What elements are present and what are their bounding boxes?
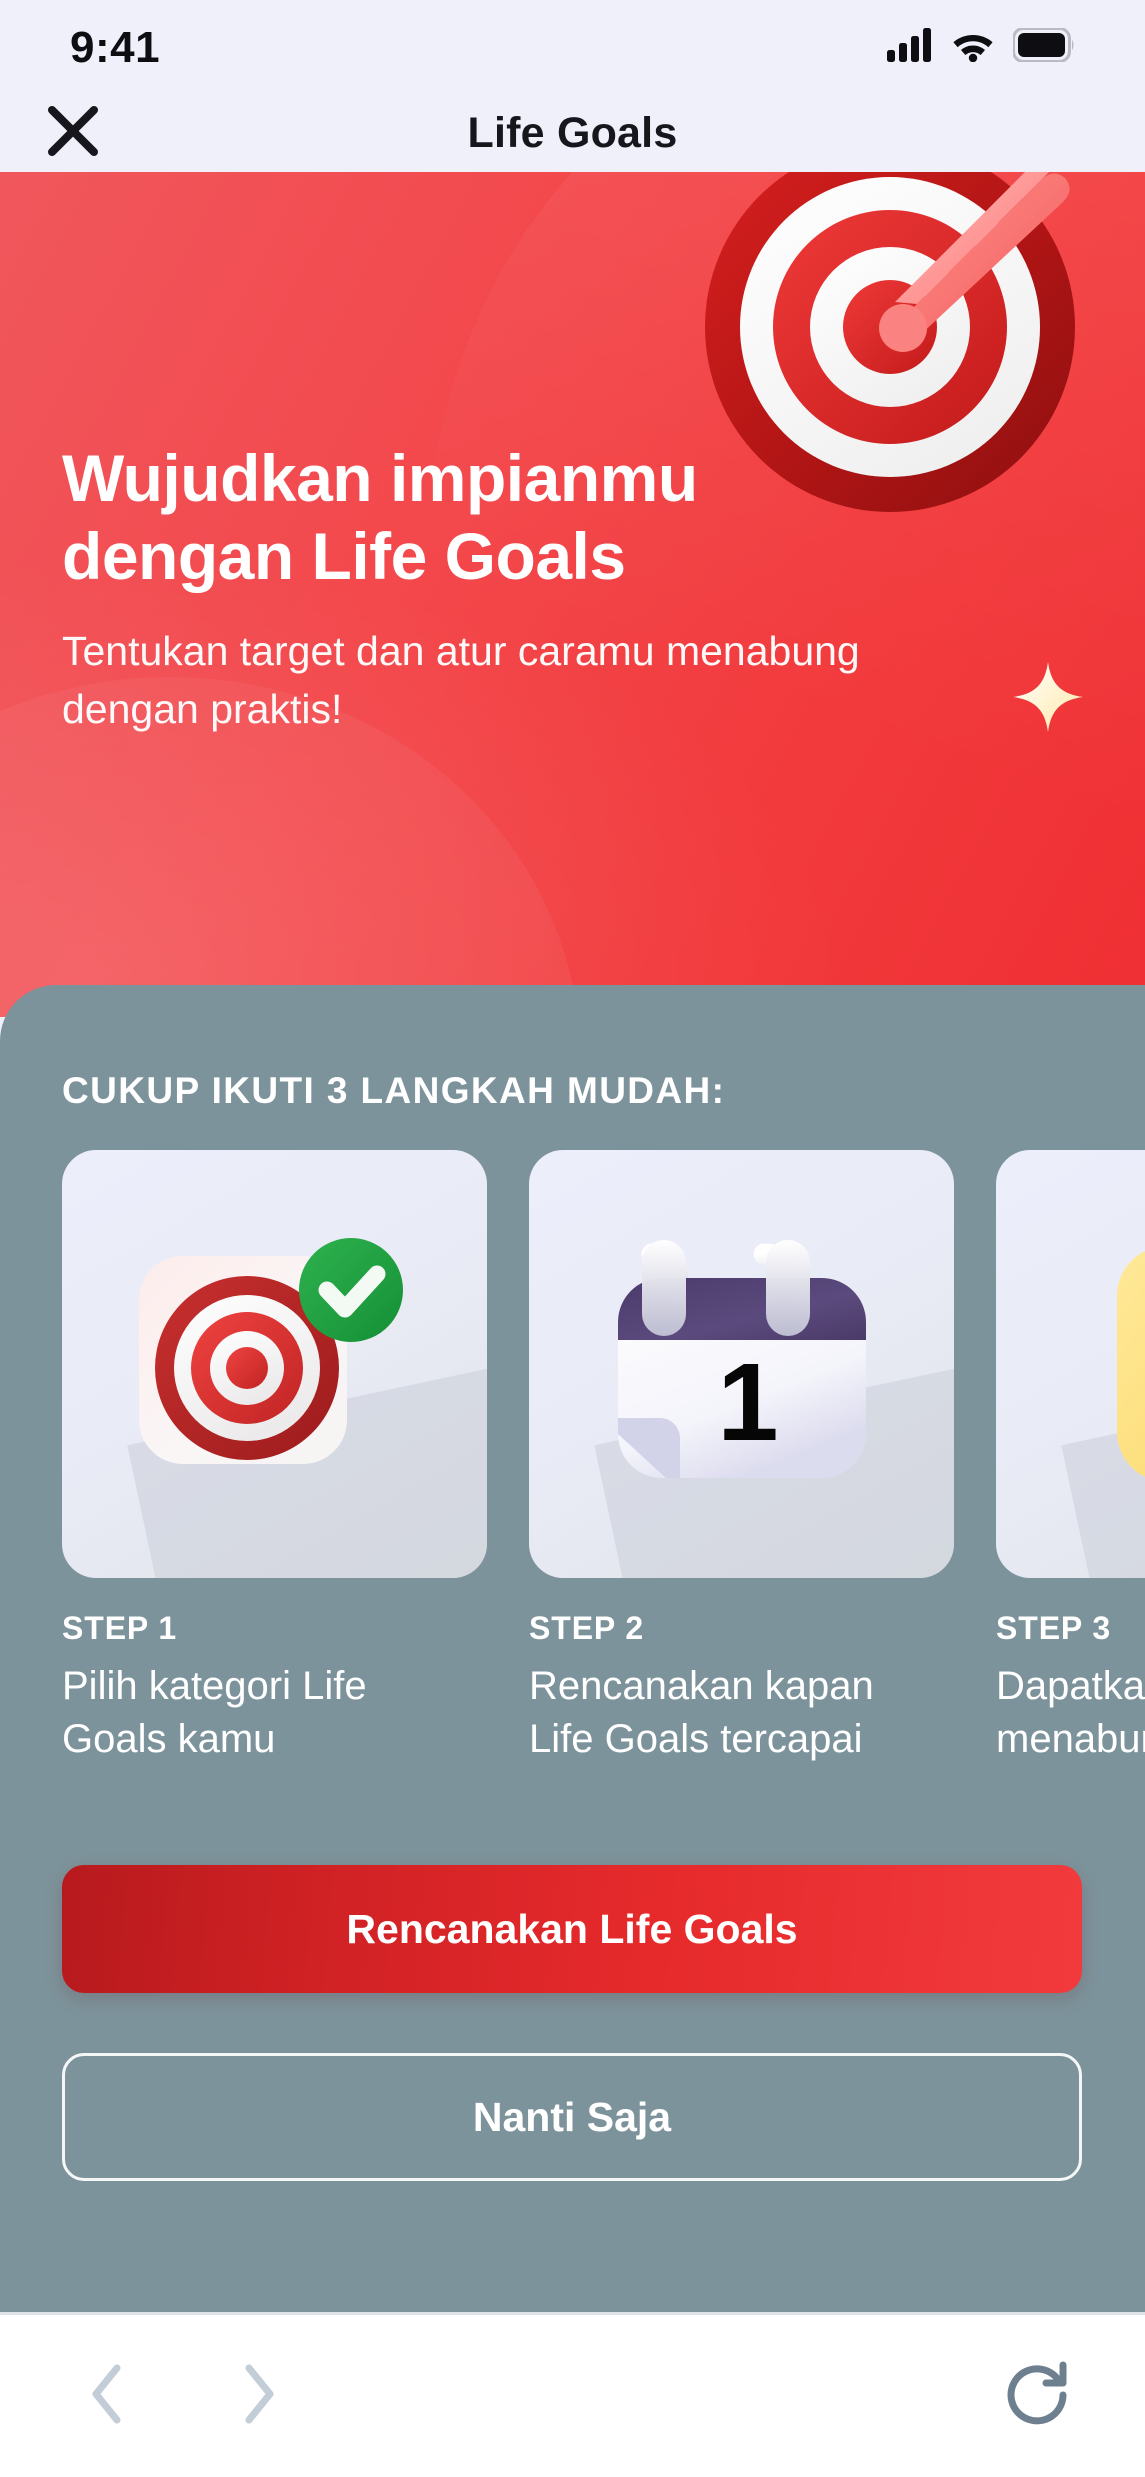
plan-life-goals-button[interactable]: Rencanakan Life Goals: [62, 1865, 1082, 1993]
status-bar: 9:41: [0, 0, 1145, 95]
hero-title: Wujudkan impianmu dengan Life Goals: [62, 440, 992, 596]
wifi-icon: [951, 28, 995, 67]
close-button[interactable]: [38, 99, 108, 169]
chevron-left-icon: [84, 2362, 130, 2431]
svg-text:1: 1: [717, 1341, 778, 1464]
money-bag-icon: [1063, 1218, 1145, 1510]
browser-nav-group: [70, 2359, 296, 2433]
sparkle-icon: [1013, 662, 1083, 732]
nav-bar: Life Goals: [0, 95, 1145, 172]
hero-subtitle: Tentukan target dan atur caramu menabung…: [62, 622, 992, 738]
browser-back-button[interactable]: [70, 2359, 144, 2433]
steps-heading: CUKUP IKUTI 3 LANGKAH MUDAH:: [62, 1070, 725, 1112]
mobile-screen: 9:41: [0, 0, 1145, 2477]
chevron-right-icon: [236, 2362, 282, 2431]
step-2-image: 1: [529, 1150, 954, 1578]
step-card-2[interactable]: 1 STEP 2 Rencanakan kapan Life Goals ter…: [529, 1150, 954, 1766]
step-2-description: Rencanakan kapan Life Goals tercapai: [529, 1660, 954, 1766]
target-check-icon: [129, 1218, 421, 1510]
steps-panel: CUKUP IKUTI 3 LANGKAH MUDAH:: [0, 985, 1145, 2312]
status-indicators: [887, 28, 1075, 67]
hero-title-line2: dengan Life Goals: [62, 518, 992, 596]
hero-text-block: Wujudkan impianmu dengan Life Goals Tent…: [62, 440, 992, 738]
step-1-description: Pilih kategori Life Goals kamu: [62, 1660, 487, 1766]
browser-reload-button[interactable]: [1001, 2359, 1075, 2433]
steps-carousel[interactable]: STEP 1 Pilih kategori Life Goals kamu: [62, 1150, 1145, 1766]
step-card-1[interactable]: STEP 1 Pilih kategori Life Goals kamu: [62, 1150, 487, 1766]
step-card-3[interactable]: STEP 3 Dapatkan tips menabung: [996, 1150, 1145, 1766]
hero-title-line1: Wujudkan impianmu: [62, 440, 992, 518]
calendar-day-one-icon: 1: [596, 1218, 888, 1510]
close-x-icon: [46, 104, 100, 163]
later-button[interactable]: Nanti Saja: [62, 2053, 1082, 2181]
step-2-number: STEP 2: [529, 1610, 954, 1647]
browser-forward-button[interactable]: [222, 2359, 296, 2433]
hero-banner: Wujudkan impianmu dengan Life Goals Tent…: [0, 172, 1145, 1017]
step-3-description: Dapatkan tips menabung: [996, 1660, 1145, 1766]
step-3-image: [996, 1150, 1145, 1578]
reload-icon: [1001, 2357, 1075, 2436]
step-1-image: [62, 1150, 487, 1578]
step-3-number: STEP 3: [996, 1610, 1145, 1647]
status-time: 9:41: [70, 23, 160, 73]
step-1-number: STEP 1: [62, 1610, 487, 1647]
page-title: Life Goals: [0, 109, 1145, 158]
signal-bars-icon: [887, 28, 933, 67]
battery-full-icon: [1013, 28, 1075, 67]
browser-toolbar: [0, 2312, 1145, 2477]
